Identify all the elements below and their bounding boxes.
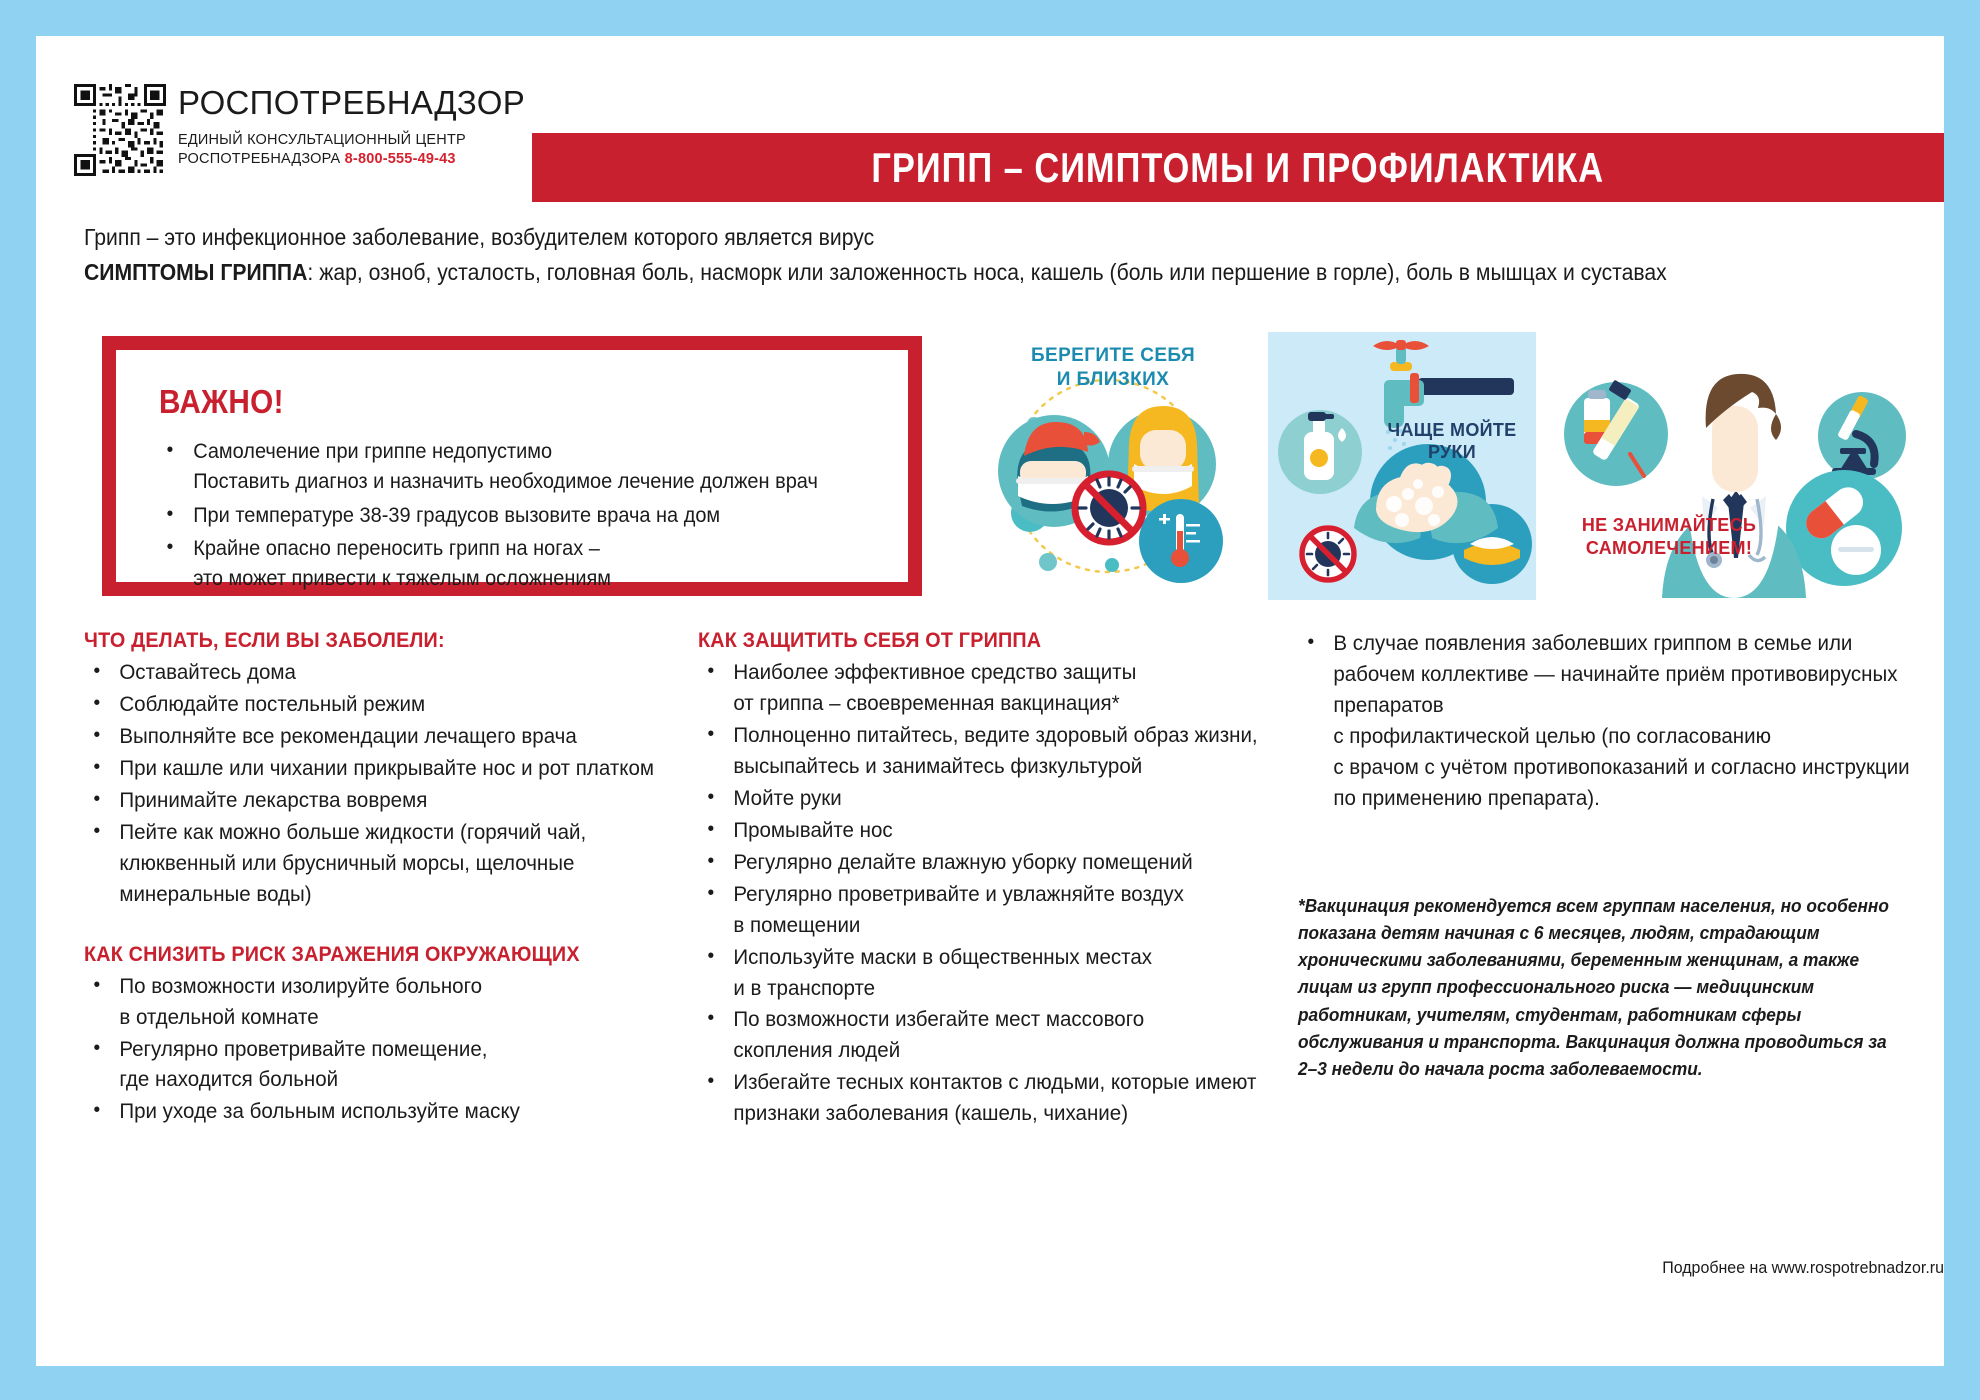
illustration-label-wash-hands: ЧАЩЕ МОЙТЕРУКИ: [1378, 420, 1526, 464]
list-family: В случае появления заболевших гриппом в …: [1298, 628, 1944, 814]
list-if-sick: Оставайтесь домаСоблюдайте постельный ре…: [84, 657, 684, 910]
illustration-panel-wash-hands: ЧАЩЕ МОЙТЕРУКИ: [1268, 332, 1536, 600]
center-line-2: РОСПОТРЕБНАДЗОРА 8-800-555-49-43: [178, 150, 508, 169]
poster-header: РОСПОТРЕБНАДЗОР ЕДИНЫЙ КОНСУЛЬТАЦИОННЫЙ …: [36, 36, 1944, 201]
organization-name: РОСПОТРЕБНАДЗОР: [178, 86, 508, 121]
list-item: Используйте маски в общественных местахи…: [698, 942, 1261, 1004]
important-list: Самолечение при гриппе недопустимоПостав…: [159, 437, 871, 594]
hotline-phone[interactable]: 8-800-555-49-43: [345, 151, 456, 167]
title-banner: ГРИПП – СИМПТОМЫ И ПРОФИЛАКТИКА: [532, 133, 1944, 202]
column-protect: КАК ЗАЩИТИТЬ СЕБЯ ОТ ГРИППА Наиболее эфф…: [698, 628, 1288, 1130]
list-item: Полноценно питайтесь, ведите здоровый об…: [698, 720, 1261, 782]
consultation-center-info: ЕДИНЫЙ КОНСУЛЬТАЦИОННЫЙ ЦЕНТР РОСПОТРЕБН…: [178, 131, 508, 169]
list-item: Промывайте нос: [698, 815, 1261, 846]
heading-reduce-risk: КАК СНИЗИТЬ РИСК ЗАРАЖЕНИЯ ОКРУЖАЮЩИХ: [84, 942, 636, 967]
list-item: Пейте как можно больше жидкости (горячий…: [84, 817, 657, 910]
no-virus-icon: [1072, 471, 1146, 545]
list-item: Регулярно делайте влажную уборку помещен…: [698, 847, 1261, 878]
list-item: Соблюдайте постельный режим: [84, 689, 657, 720]
intro-block: Грипп – это инфекционное заболевание, во…: [84, 222, 1924, 288]
list-item: Выполняйте все рекомендации лечащего вра…: [84, 721, 657, 752]
more-info-link[interactable]: Подробнее на www.rospotrebnadzor.ru: [1337, 1258, 1944, 1278]
list-item: При уходе за больным используйте маску: [84, 1096, 657, 1127]
list-item: Регулярно проветривайте и увлажняйте воз…: [698, 879, 1261, 941]
intro-symptoms: СИМПТОМЫ ГРИППА: жар, озноб, усталость, …: [84, 257, 1777, 289]
important-title: ВАЖНО!: [159, 383, 800, 421]
illustration-panel-doctor: НЕ ЗАНИМАЙТЕСЬСАМОЛЕЧЕНИЕМ!: [1544, 336, 1944, 598]
heading-protect: КАК ЗАЩИТИТЬ СЕБЯ ОТ ГРИППА: [698, 628, 1241, 653]
intro-definition: Грипп – это инфекционное заболевание, во…: [84, 222, 1777, 254]
heading-if-sick: ЧТО ДЕЛАТЬ, ЕСЛИ ВЫ ЗАБОЛЕЛИ:: [84, 628, 636, 653]
illustration-label-protect: БЕРЕГИТЕ СЕБЯИ БЛИЗКИХ: [988, 344, 1238, 391]
important-callout-inner: ВАЖНО! Самолечение при гриппе недопустим…: [124, 358, 900, 574]
page-title: ГРИПП – СИМПТОМЫ И ПРОФИЛАКТИКА: [872, 144, 1605, 192]
center-line-2-text: РОСПОТРЕБНАДЗОРА: [178, 151, 340, 167]
qr-code-icon[interactable]: [74, 84, 166, 176]
brand-text-block: РОСПОТРЕБНАДЗОР ЕДИНЫЙ КОНСУЛЬТАЦИОННЫЙ …: [178, 86, 508, 169]
list-item: Регулярно проветривайте помещение,где на…: [84, 1034, 657, 1096]
list-protect: Наиболее эффективное средство защитыот г…: [698, 657, 1288, 1129]
no-virus-icon-small: [1299, 525, 1357, 583]
illustration-label-no-self-medication: НЕ ЗАНИМАЙТЕСЬСАМОЛЕЧЕНИЕМ!: [1554, 514, 1784, 559]
list-reduce-risk: По возможности изолируйте больногов отде…: [84, 971, 684, 1128]
list-item: По возможности изолируйте больногов отде…: [84, 971, 657, 1033]
list-item: В случае появления заболевших гриппом в …: [1298, 628, 1915, 814]
column-family: В случае появления заболевших гриппом в …: [1298, 628, 1944, 1082]
list-item: Крайне опасно переносить грипп на ногах …: [159, 534, 835, 594]
list-item: При температуре 38-39 градусов вызовите …: [159, 501, 835, 531]
wash-hands-illustration: [1268, 332, 1536, 600]
list-item: Мойте руки: [698, 783, 1261, 814]
illustration-strip: БЕРЕГИТЕ СЕБЯИ БЛИЗКИХ: [966, 332, 1944, 600]
symptoms-label: СИМПТОМЫ ГРИППА: [84, 259, 307, 285]
vaccination-footnote: *Вакцинация рекомендуется всем группам н…: [1298, 892, 1905, 1083]
brand-block: РОСПОТРЕБНАДЗОР ЕДИНЫЙ КОНСУЛЬТАЦИОННЫЙ …: [74, 84, 504, 199]
list-item: Самолечение при гриппе недопустимоПостав…: [159, 437, 835, 497]
poster-outer-frame: РОСПОТРЕБНАДЗОР ЕДИНЫЙ КОНСУЛЬТАЦИОННЫЙ …: [0, 0, 1980, 1400]
list-item: Избегайте тесных контактов с людьми, кот…: [698, 1067, 1261, 1129]
center-line-1: ЕДИНЫЙ КОНСУЛЬТАЦИОННЫЙ ЦЕНТР: [178, 131, 508, 150]
list-item: Наиболее эффективное средство защитыот г…: [698, 657, 1261, 719]
illustration-panel-protect: БЕРЕГИТЕ СЕБЯИ БЛИЗКИХ: [966, 336, 1256, 598]
list-item: При кашле или чихании прикрывайте нос и …: [84, 753, 657, 784]
column-if-sick: ЧТО ДЕЛАТЬ, ЕСЛИ ВЫ ЗАБОЛЕЛИ: Оставайтес…: [84, 628, 684, 1128]
poster-page: РОСПОТРЕБНАДЗОР ЕДИНЫЙ КОНСУЛЬТАЦИОННЫЙ …: [36, 36, 1944, 1366]
doctor-icon: [1662, 374, 1806, 598]
symptoms-text: : жар, озноб, усталость, головная боль, …: [307, 259, 1666, 285]
important-callout-box: ВАЖНО! Самолечение при гриппе недопустим…: [102, 336, 922, 596]
list-item: По возможности избегайте мест массовогос…: [698, 1004, 1261, 1066]
list-item: Оставайтесь дома: [84, 657, 657, 688]
list-item: Принимайте лекарства вовремя: [84, 785, 657, 816]
